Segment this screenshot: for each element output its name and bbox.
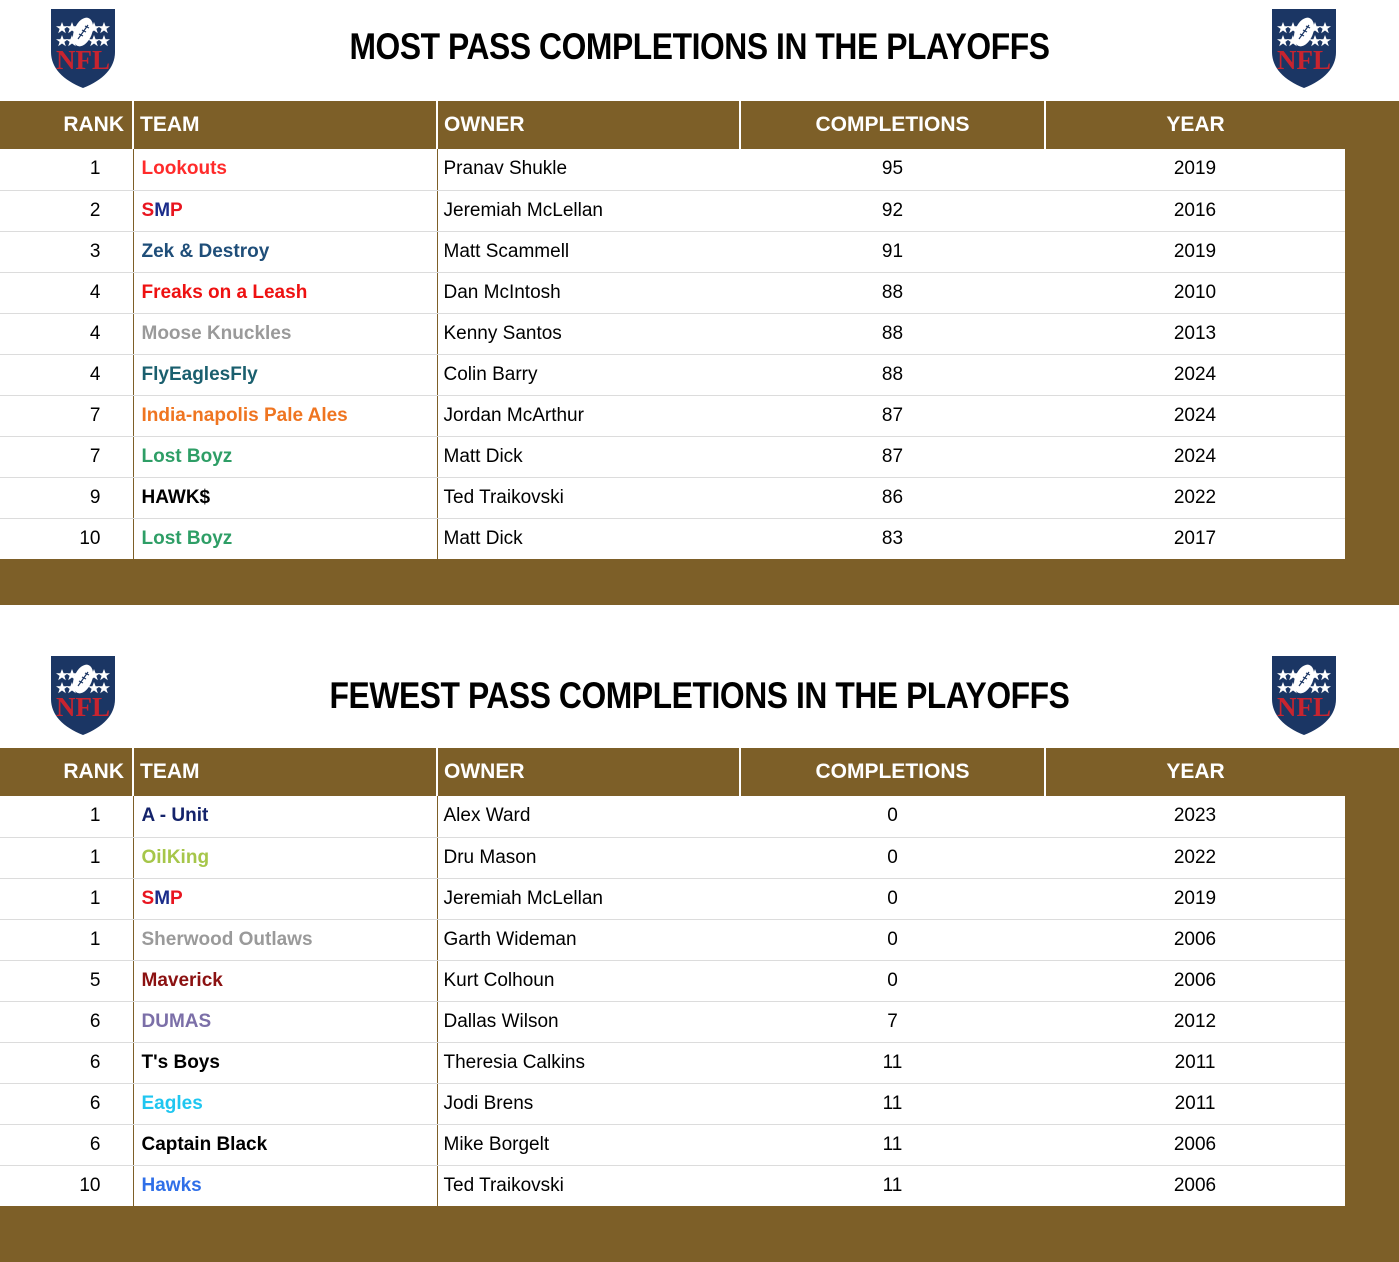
cell-rank: 7 [0, 436, 133, 477]
cell-completions: 0 [740, 919, 1045, 960]
cell-rank: 1 [0, 149, 133, 190]
row-spacer [1345, 272, 1399, 313]
team-name-segment: Lookouts [142, 158, 228, 179]
cell-completions: 86 [740, 477, 1045, 518]
cell-year: 2022 [1045, 837, 1345, 878]
row-spacer [1345, 1165, 1399, 1206]
table-row: 7Lost BoyzMatt Dick872024 [0, 436, 1399, 477]
row-spacer [1345, 149, 1399, 190]
cell-owner: Ted Traikovski [437, 477, 740, 518]
column-header-team: TEAM [133, 101, 437, 149]
cell-year: 2006 [1045, 960, 1345, 1001]
row-spacer [1345, 231, 1399, 272]
team-name-segment: HAWK$ [142, 487, 211, 508]
column-header-year: YEAR [1045, 748, 1345, 796]
cell-completions: 92 [740, 190, 1045, 231]
cell-rank: 10 [0, 518, 133, 559]
cell-rank: 1 [0, 878, 133, 919]
cell-rank: 4 [0, 272, 133, 313]
cell-completions: 87 [740, 436, 1045, 477]
cell-year: 2019 [1045, 149, 1345, 190]
nfl-shield-icon: NFL [47, 653, 119, 738]
section-fewest-pass-completions: NFL FEWEST PASS COMPLETIONS IN THE PLAYO… [0, 614, 1399, 1262]
cell-year: 2006 [1045, 1165, 1345, 1206]
row-spacer [1345, 1001, 1399, 1042]
cell-completions: 88 [740, 354, 1045, 395]
cell-owner: Colin Barry [437, 354, 740, 395]
table-row: 4Moose KnucklesKenny Santos882013 [0, 313, 1399, 354]
row-spacer [1345, 919, 1399, 960]
cell-owner: Dru Mason [437, 837, 740, 878]
cell-owner: Pranav Shukle [437, 149, 740, 190]
cell-team: OilKing [133, 837, 437, 878]
cell-rank: 3 [0, 231, 133, 272]
cell-completions: 83 [740, 518, 1045, 559]
team-name-segment: OilKing [142, 847, 210, 868]
title-band-most: NFL MOST PASS COMPLETIONS IN THE PLAYOFF… [0, 0, 1399, 101]
cell-completions: 91 [740, 231, 1045, 272]
row-spacer [1345, 313, 1399, 354]
team-name-segment: S [142, 200, 155, 221]
table-row: 4FlyEaglesFlyColin Barry882024 [0, 354, 1399, 395]
cell-team: Lost Boyz [133, 518, 437, 559]
cell-year: 2011 [1045, 1042, 1345, 1083]
nfl-wordmark: NFL [1277, 692, 1331, 722]
cell-rank: 6 [0, 1042, 133, 1083]
cell-completions: 0 [740, 796, 1045, 837]
cell-team: Hawks [133, 1165, 437, 1206]
cell-owner: Jordan McArthur [437, 395, 740, 436]
cell-owner: Matt Scammell [437, 231, 740, 272]
cell-owner: Garth Wideman [437, 919, 740, 960]
team-name-segment: Lost Boyz [142, 528, 233, 549]
cell-completions: 11 [740, 1042, 1045, 1083]
cell-team: T's Boys [133, 1042, 437, 1083]
column-header-owner: OWNER [437, 101, 740, 149]
cell-rank: 6 [0, 1124, 133, 1165]
cell-rank: 5 [0, 960, 133, 1001]
team-name-segment: Sherwood Outlaws [142, 929, 313, 950]
table-row: 5MaverickKurt Colhoun02006 [0, 960, 1399, 1001]
cell-rank: 1 [0, 796, 133, 837]
table-row: 4Freaks on a LeashDan McIntosh882010 [0, 272, 1399, 313]
row-spacer [1345, 1124, 1399, 1165]
column-header-year: YEAR [1045, 101, 1345, 149]
team-name-segment: M [154, 888, 170, 909]
row-spacer [1345, 395, 1399, 436]
row-spacer [1345, 796, 1399, 837]
table-row: 6EaglesJodi Brens112011 [0, 1083, 1399, 1124]
page-title-fewest: FEWEST PASS COMPLETIONS IN THE PLAYOFFS [227, 675, 1172, 717]
row-spacer [1345, 878, 1399, 919]
cell-team: Zek & Destroy [133, 231, 437, 272]
team-name-segment: Captain Black [142, 1134, 268, 1155]
row-spacer [1345, 518, 1399, 559]
table-header-row: RANK TEAM OWNER COMPLETIONS YEAR [0, 101, 1399, 149]
cell-completions: 0 [740, 878, 1045, 919]
team-name-segment: Maverick [142, 970, 223, 991]
cell-team: Eagles [133, 1083, 437, 1124]
page-root: NFL MOST PASS COMPLETIONS IN THE PLAYOFF… [0, 0, 1399, 1262]
cell-team: Moose Knuckles [133, 313, 437, 354]
table-row: 1SMPJeremiah McLellan02019 [0, 878, 1399, 919]
cell-owner: Theresia Calkins [437, 1042, 740, 1083]
cell-year: 2023 [1045, 796, 1345, 837]
cell-owner: Kenny Santos [437, 313, 740, 354]
cell-year: 2006 [1045, 919, 1345, 960]
column-header-completions: COMPLETIONS [740, 101, 1045, 149]
cell-rank: 10 [0, 1165, 133, 1206]
table-row: 10HawksTed Traikovski112006 [0, 1165, 1399, 1206]
cell-owner: Jeremiah McLellan [437, 878, 740, 919]
cell-team: Lost Boyz [133, 436, 437, 477]
team-name-segment: S [142, 888, 155, 909]
nfl-wordmark: NFL [1277, 45, 1331, 75]
cell-completions: 11 [740, 1124, 1045, 1165]
cell-owner: Kurt Colhoun [437, 960, 740, 1001]
cell-owner: Mike Borgelt [437, 1124, 740, 1165]
nfl-shield-icon: NFL [1268, 6, 1340, 91]
row-spacer [1345, 477, 1399, 518]
cell-completions: 88 [740, 313, 1045, 354]
cell-team: FlyEaglesFly [133, 354, 437, 395]
table-fewest-pass-completions: RANK TEAM OWNER COMPLETIONS YEAR 1A - Un… [0, 748, 1399, 1206]
cell-rank: 9 [0, 477, 133, 518]
table-header-row: RANK TEAM OWNER COMPLETIONS YEAR [0, 748, 1399, 796]
row-spacer [1345, 1083, 1399, 1124]
cell-year: 2006 [1045, 1124, 1345, 1165]
cell-owner: Matt Dick [437, 518, 740, 559]
table-row: 3Zek & DestroyMatt Scammell912019 [0, 231, 1399, 272]
row-spacer [1345, 190, 1399, 231]
team-name-segment: Freaks on a Leash [142, 282, 308, 303]
cell-completions: 0 [740, 960, 1045, 1001]
column-header-rank: RANK [0, 101, 133, 149]
cell-year: 2022 [1045, 477, 1345, 518]
cell-rank: 2 [0, 190, 133, 231]
table-row: 1OilKingDru Mason02022 [0, 837, 1399, 878]
header-spacer [1345, 748, 1399, 796]
table-row: 7India-napolis Pale AlesJordan McArthur8… [0, 395, 1399, 436]
cell-rank: 6 [0, 1001, 133, 1042]
cell-team: DUMAS [133, 1001, 437, 1042]
cell-year: 2012 [1045, 1001, 1345, 1042]
title-band-fewest: NFL FEWEST PASS COMPLETIONS IN THE PLAYO… [0, 614, 1399, 748]
cell-year: 2024 [1045, 395, 1345, 436]
cell-team: Sherwood Outlaws [133, 919, 437, 960]
cell-rank: 4 [0, 313, 133, 354]
team-name-segment: Lost Boyz [142, 446, 233, 467]
cell-owner: Alex Ward [437, 796, 740, 837]
cell-team: HAWK$ [133, 477, 437, 518]
cell-completions: 11 [740, 1083, 1045, 1124]
cell-owner: Ted Traikovski [437, 1165, 740, 1206]
table-row: 1Sherwood OutlawsGarth Wideman02006 [0, 919, 1399, 960]
row-spacer [1345, 436, 1399, 477]
cell-team: Lookouts [133, 149, 437, 190]
table-row: 1LookoutsPranav Shukle952019 [0, 149, 1399, 190]
table-row: 6DUMASDallas Wilson72012 [0, 1001, 1399, 1042]
nfl-shield-icon: NFL [1268, 653, 1340, 738]
page-title-most: MOST PASS COMPLETIONS IN THE PLAYOFFS [227, 26, 1172, 68]
team-name-segment: P [170, 888, 183, 909]
table-row: 9HAWK$Ted Traikovski862022 [0, 477, 1399, 518]
cell-rank: 4 [0, 354, 133, 395]
team-name-segment: Zek & Destroy [142, 241, 270, 262]
cell-owner: Jodi Brens [437, 1083, 740, 1124]
cell-completions: 11 [740, 1165, 1045, 1206]
row-spacer [1345, 837, 1399, 878]
cell-owner: Matt Dick [437, 436, 740, 477]
row-spacer [1345, 960, 1399, 1001]
team-name-segment: DUMAS [142, 1011, 212, 1032]
nfl-shield-icon: NFL [47, 6, 119, 91]
cell-year: 2019 [1045, 231, 1345, 272]
team-name-segment: M [154, 200, 170, 221]
cell-rank: 6 [0, 1083, 133, 1124]
cell-team: India-napolis Pale Ales [133, 395, 437, 436]
cell-rank: 1 [0, 837, 133, 878]
table-body: 1LookoutsPranav Shukle9520192SMPJeremiah… [0, 149, 1399, 559]
row-spacer [1345, 354, 1399, 395]
cell-year: 2017 [1045, 518, 1345, 559]
column-header-completions: COMPLETIONS [740, 748, 1045, 796]
cell-team: A - Unit [133, 796, 437, 837]
cell-year: 2011 [1045, 1083, 1345, 1124]
section-most-pass-completions: NFL MOST PASS COMPLETIONS IN THE PLAYOFF… [0, 0, 1399, 605]
team-name-segment: A - Unit [142, 805, 209, 826]
column-header-team: TEAM [133, 748, 437, 796]
cell-rank: 7 [0, 395, 133, 436]
table-row: 10Lost BoyzMatt Dick832017 [0, 518, 1399, 559]
cell-owner: Dan McIntosh [437, 272, 740, 313]
cell-completions: 87 [740, 395, 1045, 436]
team-name-segment: India-napolis Pale Ales [142, 405, 348, 426]
cell-completions: 7 [740, 1001, 1045, 1042]
team-name-segment: Moose Knuckles [142, 323, 292, 344]
table-row: 6T's BoysTheresia Calkins112011 [0, 1042, 1399, 1083]
cell-team: Captain Black [133, 1124, 437, 1165]
team-name-segment: Eagles [142, 1093, 203, 1114]
nfl-wordmark: NFL [56, 45, 110, 75]
cell-team: Maverick [133, 960, 437, 1001]
cell-team: Freaks on a Leash [133, 272, 437, 313]
cell-completions: 0 [740, 837, 1045, 878]
nfl-wordmark: NFL [56, 692, 110, 722]
cell-year: 2013 [1045, 313, 1345, 354]
cell-year: 2016 [1045, 190, 1345, 231]
table-row: 2SMPJeremiah McLellan922016 [0, 190, 1399, 231]
cell-team: SMP [133, 190, 437, 231]
table-row: 1A - UnitAlex Ward02023 [0, 796, 1399, 837]
cell-year: 2024 [1045, 436, 1345, 477]
cell-rank: 1 [0, 919, 133, 960]
column-header-rank: RANK [0, 748, 133, 796]
cell-year: 2019 [1045, 878, 1345, 919]
team-name-segment: Hawks [142, 1175, 202, 1196]
cell-team: SMP [133, 878, 437, 919]
cell-completions: 95 [740, 149, 1045, 190]
team-name-segment: FlyEaglesFly [142, 364, 258, 385]
column-header-owner: OWNER [437, 748, 740, 796]
team-name-segment: T's Boys [142, 1052, 220, 1073]
cell-owner: Dallas Wilson [437, 1001, 740, 1042]
header-spacer [1345, 101, 1399, 149]
cell-completions: 88 [740, 272, 1045, 313]
table-most-pass-completions: RANK TEAM OWNER COMPLETIONS YEAR 1Lookou… [0, 101, 1399, 559]
table-body: 1A - UnitAlex Ward020231OilKingDru Mason… [0, 796, 1399, 1206]
cell-year: 2010 [1045, 272, 1345, 313]
cell-year: 2024 [1045, 354, 1345, 395]
cell-owner: Jeremiah McLellan [437, 190, 740, 231]
team-name-segment: P [170, 200, 183, 221]
row-spacer [1345, 1042, 1399, 1083]
table-row: 6Captain BlackMike Borgelt112006 [0, 1124, 1399, 1165]
